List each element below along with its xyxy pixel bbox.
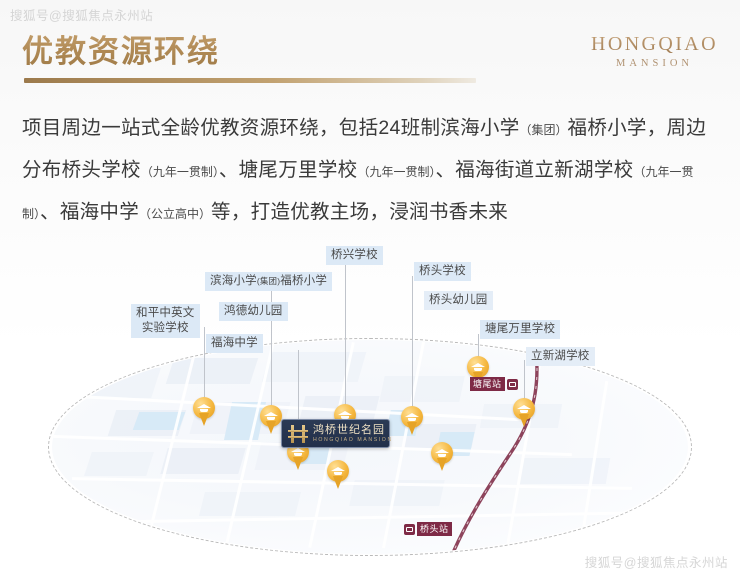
station-qiaotou[interactable]: 桥头站 [404,522,452,536]
poster-header: 优教资源环绕 HONGQIAO MANSION [0,24,740,92]
title-underline-rule [24,78,476,83]
desc-part-4: 、福海街道立新湖学校 [435,159,633,181]
graduation-cap-icon [405,413,419,422]
map-label-hepingzhongyingwen: 和平中英文 实验学校 [131,304,200,338]
project-badge-name-en: HONGQIAO MANSION [313,436,393,444]
desc-note-1: （集团） [520,123,568,137]
map-pin-qiaotou-kindergarten[interactable] [431,442,453,472]
map-label-fuhai-text: 福海中学 [211,337,258,349]
graduation-cap-icon [331,467,345,476]
graduation-cap-icon [264,412,278,421]
map-label-hepingzhongyingwen-line2: 实验学校 [142,322,189,334]
project-badge[interactable]: 鸿桥世纪名园 HONGQIAO MANSION [281,419,390,448]
map-pin-hepingzhongyingwen[interactable] [193,397,215,427]
map-label-binhai-fuqiao: 滨海小学(集团)福桥小学 [205,272,332,291]
map-label-qiaoxing-text: 桥兴学校 [331,249,378,261]
map-label-qiaotou-kindergarten: 桥头幼儿园 [424,291,493,310]
description-paragraph: 项目周边一站式全龄优教资源环绕，包括24班制滨海小学（集团）福桥小学，周边分布桥… [22,108,722,234]
station-tangwei[interactable]: 塘尾站 [470,377,518,391]
map-pin-fuhai-middle[interactable] [327,460,349,490]
graduation-cap-icon [197,404,211,413]
map-label-hongde-kindergarten: 鸿德幼儿园 [219,302,288,321]
metro-icon [507,379,518,390]
map-label-hongde-text: 鸿德幼儿园 [224,305,283,317]
brand-name-sub: MANSION [591,58,718,69]
map-canvas: 和平中英文 实验学校 滨海小学(集团)福桥小学 鸿德幼儿园 福海中学 桥兴学校 … [0,228,740,579]
map-label-qiaotou-kinder-text: 桥头幼儿园 [429,294,488,306]
graduation-cap-icon [291,448,305,457]
map-label-qiaotou-school-text: 桥头学校 [419,265,466,277]
map-pin-lixinhu-school[interactable] [513,398,535,428]
graduation-cap-icon [435,449,449,458]
page-title: 优教资源环绕 [22,26,220,71]
hongqiao-h-logo-icon [286,424,310,444]
map-pin-binhai-fuqiao[interactable] [260,405,282,435]
watermark-top: 搜狐号@搜狐焦点永州站 [10,5,153,24]
station-qiaotou-label: 桥头站 [417,522,452,536]
map-label-qiaoxing-school: 桥兴学校 [326,246,383,265]
brand-logo: HONGQIAO MANSION [591,34,718,69]
map-label-lixinhu-school: 立新湖学校 [526,347,595,366]
leader-line-qiaoxing [345,260,346,422]
station-tangwei-label: 塘尾站 [470,377,505,391]
map-label-fuqiao-text: 福桥小学 [280,275,327,287]
watermark-bottom: 搜狐号@搜狐焦点永州站 [585,552,728,571]
desc-part-1: 项目周边一站式全龄优教资源环绕，包括24班制滨海小学 [22,117,520,139]
map-label-tangwei-wanli-text: 塘尾万里学校 [485,323,555,335]
graduation-cap-icon [517,405,531,414]
map-label-qiaotou-school: 桥头学校 [414,262,471,281]
desc-note-5: （公立高中） [139,207,211,221]
desc-part-5: 、福海中学 [40,201,139,223]
desc-part-6: 等，打造优教主场，浸润书香未来 [211,201,508,223]
brand-name-main: HONGQIAO [591,34,718,55]
project-badge-name-cn: 鸿桥世纪名园 [313,424,393,436]
map-pin-qiaotou-school[interactable] [401,406,423,436]
poster-page: 搜狐号@搜狐焦点永州站 优教资源环绕 HONGQIAO MANSION 项目周边… [0,0,740,579]
graduation-cap-icon [471,363,485,372]
map-label-lixinhu-text: 立新湖学校 [531,350,590,362]
map-label-hepingzhongyingwen-line1: 和平中英文 [136,307,195,319]
map-label-fuhai-middle: 福海中学 [206,334,263,353]
desc-part-3: 、塘尾万里学校 [219,159,358,181]
map-label-tangwei-wanli: 塘尾万里学校 [480,320,560,339]
location-map: 和平中英文 实验学校 滨海小学(集团)福桥小学 鸿德幼儿园 福海中学 桥兴学校 … [0,228,740,579]
metro-icon [404,524,415,535]
desc-note-2: （九年一贯制） [141,165,219,179]
map-label-binhai-note: (集团) [257,276,280,286]
desc-note-3: （九年一贯制） [357,165,435,179]
map-label-binhai-text: 滨海小学 [210,275,257,287]
